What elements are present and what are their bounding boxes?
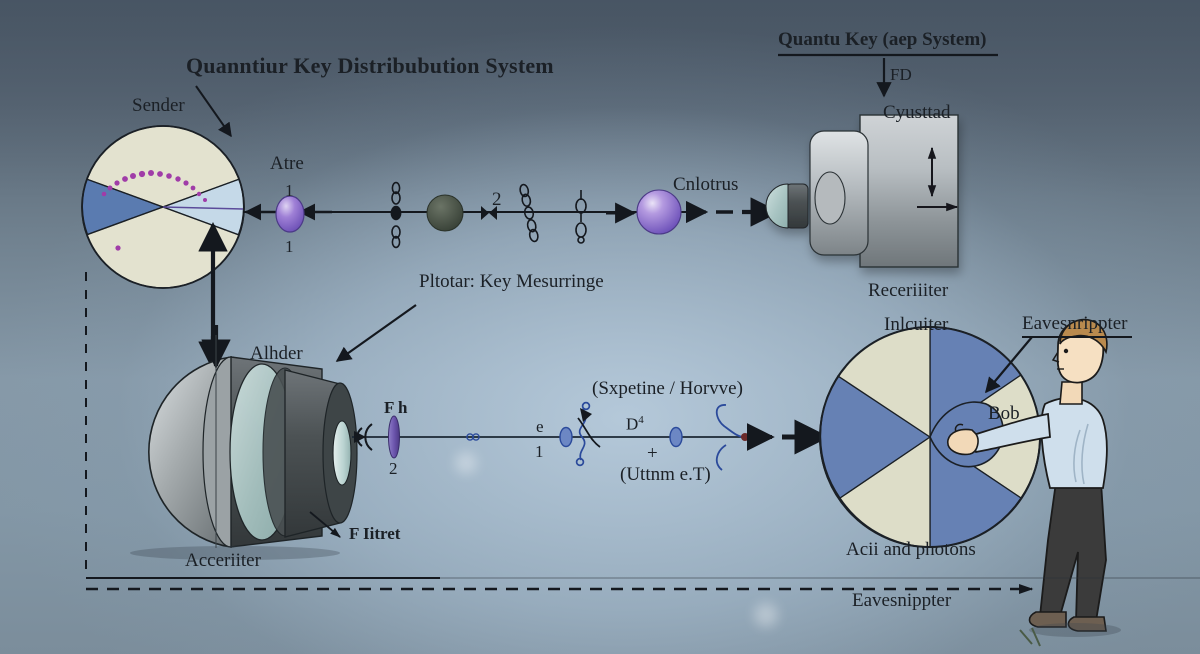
sender-label: Sender xyxy=(132,96,185,115)
uttnm-label: (Uttnm e.T) xyxy=(620,465,711,484)
acii-photons-label: Acii and photons xyxy=(846,540,976,559)
acceriiter-label: Acceriiter xyxy=(185,551,261,570)
lower-d4-base: D xyxy=(626,415,638,434)
fd-label: FD xyxy=(890,66,912,83)
f-h-number: 2 xyxy=(389,460,398,477)
lower-d4-label: D4 xyxy=(626,415,644,433)
eavesdropper-bottom-label: Eavesnippter xyxy=(852,591,951,610)
top-right-title: Quantu Key (aep System) xyxy=(778,30,986,49)
sxpetine-label: (Sxpetine / Horvve) xyxy=(592,379,743,398)
diagram-canvas: Quanntiur Key Distribubution System Quan… xyxy=(0,0,1200,654)
f-iitret-label: F Iitret xyxy=(349,525,400,542)
middle-caption: Pltotar: Key Mesurringe xyxy=(419,272,604,291)
cyusttad-label: Cyusttad xyxy=(883,103,951,122)
bob-label: Bob xyxy=(988,404,1020,423)
lower-plus-label: + xyxy=(647,444,658,463)
inlcuiter-label: Inlcuiter xyxy=(884,315,948,334)
page-title: Quanntiur Key Distribubution System xyxy=(186,55,554,77)
lower-d4-sup: 4 xyxy=(638,414,644,426)
channel-number-label: 2 xyxy=(492,190,502,209)
lower-e-label: e xyxy=(536,418,544,435)
alhder-label: Alhder xyxy=(250,344,303,363)
text-layer: Quanntiur Key Distribubution System Quan… xyxy=(0,0,1200,654)
atre-label: Atre xyxy=(270,154,304,173)
atre-bottom-number: 1 xyxy=(285,238,294,255)
atre-top-number: 1 xyxy=(285,182,294,199)
f-h-label: F h xyxy=(384,399,407,416)
cnlotrus-label: Cnlotrus xyxy=(673,175,738,194)
eavesdropper-top-label: Eavesnrippter xyxy=(1022,314,1128,333)
receiver-label: Receriiiter xyxy=(868,281,948,300)
lower-one-label: 1 xyxy=(535,443,544,460)
